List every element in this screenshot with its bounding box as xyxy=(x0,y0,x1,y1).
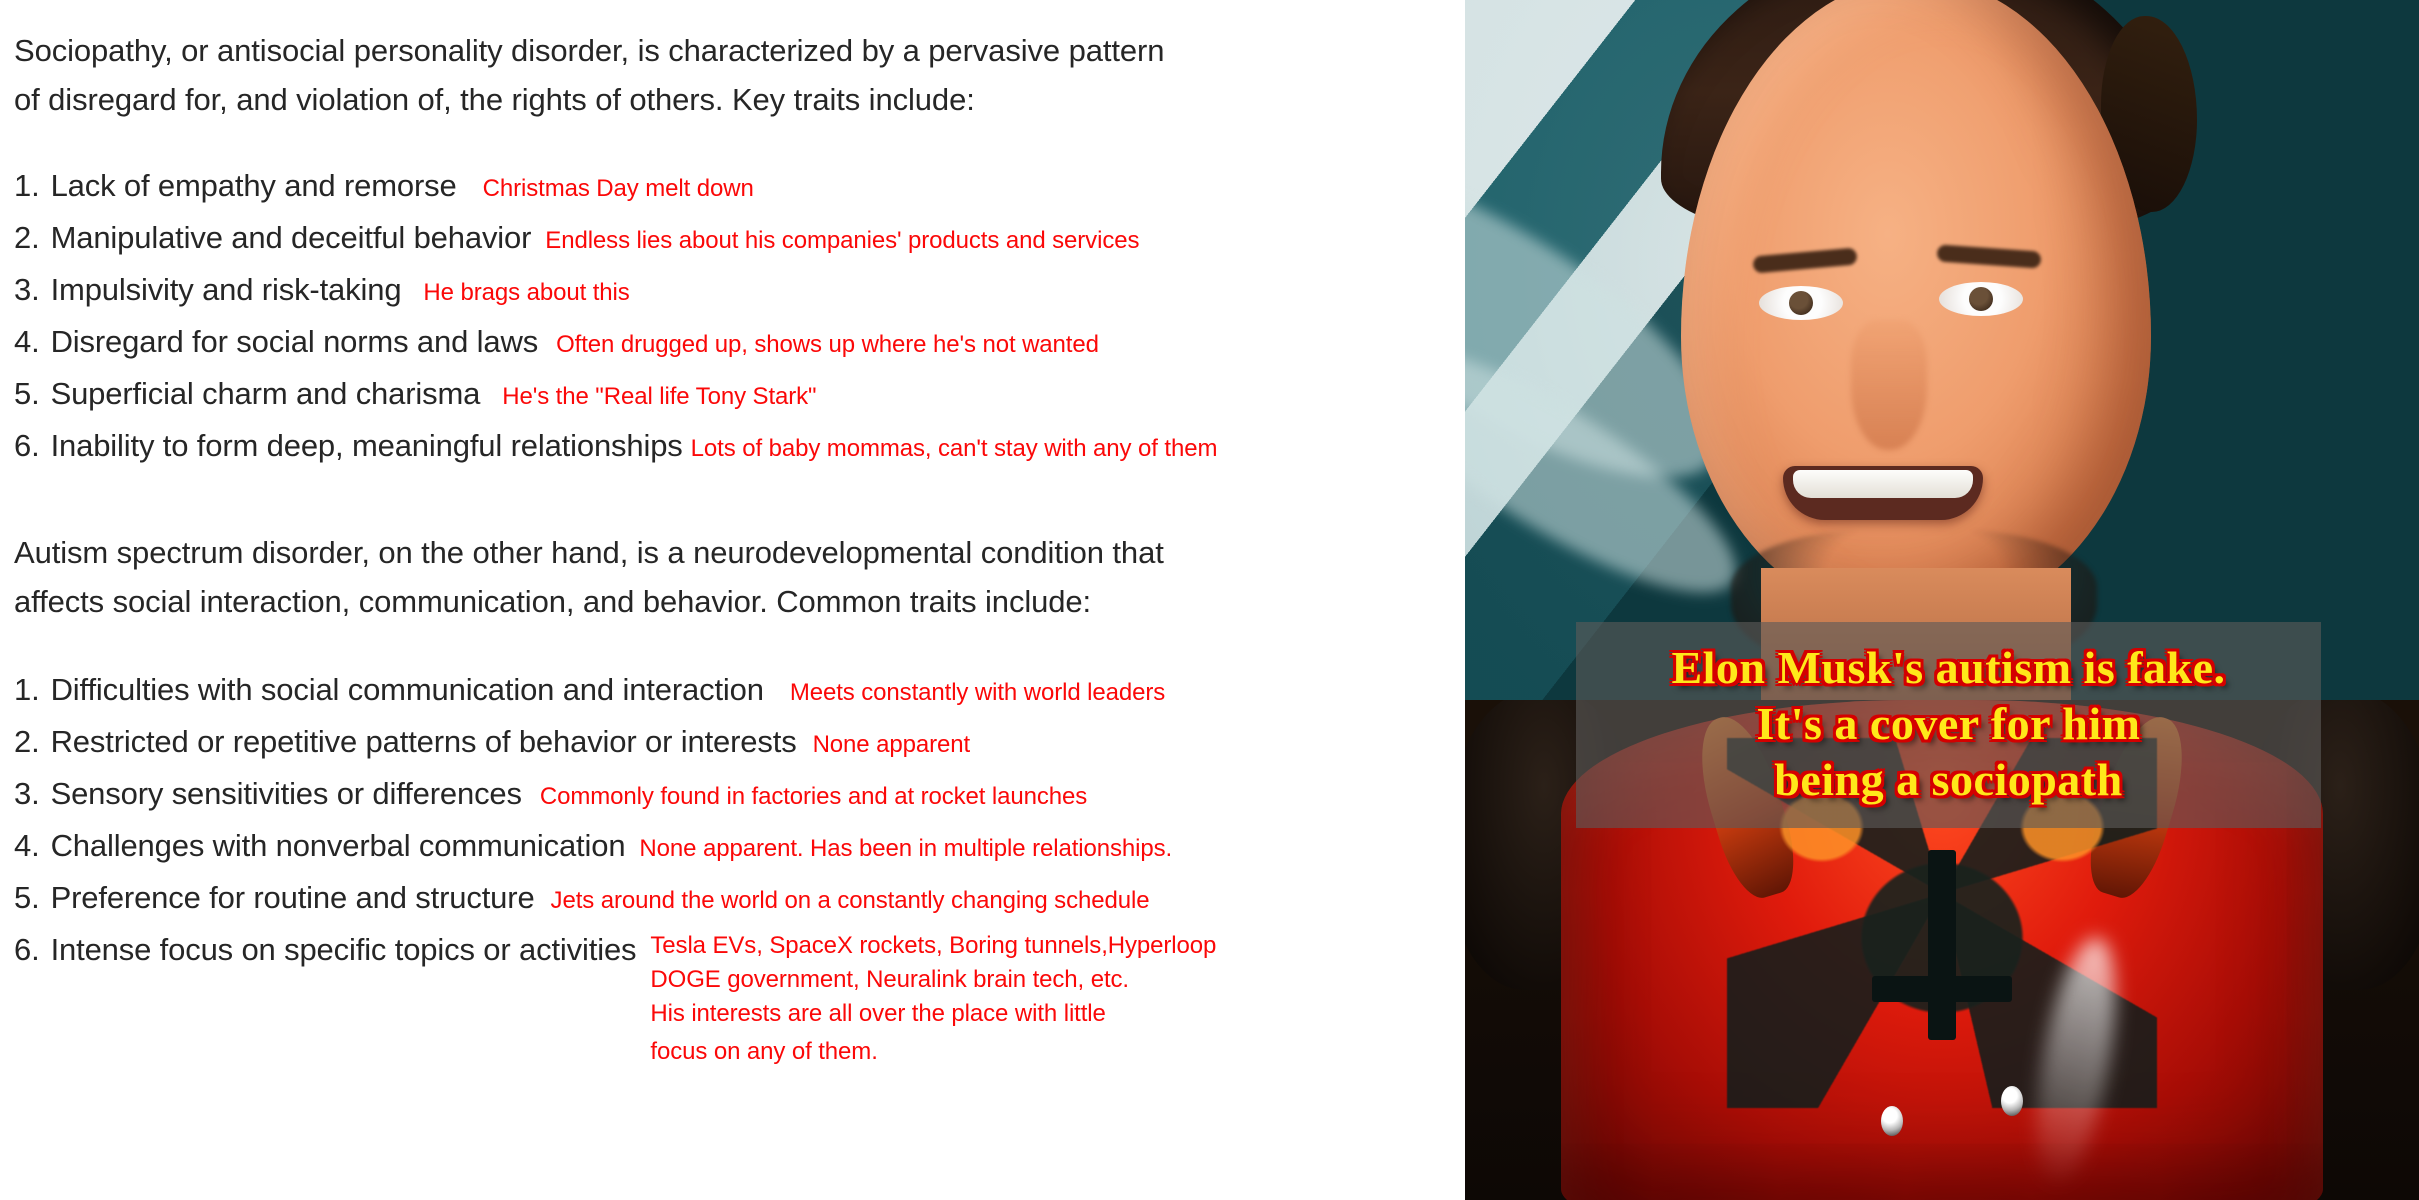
list-item: 2. Manipulative and deceitful behavior E… xyxy=(14,220,1465,272)
meme-photo: Elon Musk's autism is fake. It's a cover… xyxy=(1465,0,2419,1200)
mouth xyxy=(1783,466,1983,520)
trait-text: Sensory sensitivities or differences xyxy=(51,776,522,812)
trait-number: 3. xyxy=(14,272,40,308)
trait-text: Restricted or repetitive patterns of beh… xyxy=(51,724,797,760)
trait-text: Superficial charm and charisma xyxy=(51,376,481,412)
trait-text: Lack of empathy and remorse xyxy=(51,168,457,204)
trait-annotation: None apparent xyxy=(813,731,971,759)
trait-annotation: None apparent. Has been in multiple rela… xyxy=(639,835,1172,863)
trait-number: 5. xyxy=(14,376,40,412)
list-item: 2. Restricted or repetitive patterns of … xyxy=(14,724,1465,776)
trait-annotation: Endless lies about his companies' produc… xyxy=(545,227,1139,255)
trait-annotation: Meets constantly with world leaders xyxy=(790,679,1165,707)
face xyxy=(1681,0,2151,618)
stud xyxy=(1881,1106,1903,1136)
sociopathy-paragraph-line-2: of disregard for, and violation of, the … xyxy=(14,75,1465,124)
autism-trait-list: 1. Difficulties with social communicatio… xyxy=(14,672,1465,984)
teeth xyxy=(1793,470,1973,498)
final-annotation-block: Tesla EVs, SpaceX rockets, Boring tunnel… xyxy=(650,932,1216,1066)
text-panel: Sociopathy, or antisocial personality di… xyxy=(0,0,1465,1200)
trait-number: 4. xyxy=(14,324,40,360)
final-annotation-line-2: DOGE government, Neuralink brain tech, e… xyxy=(650,966,1216,994)
trait-number: 1. xyxy=(14,168,40,204)
trait-number: 5. xyxy=(14,880,40,916)
trait-number: 2. xyxy=(14,220,40,256)
final-annotation-line-3: His interests are all over the place wit… xyxy=(650,1000,1216,1028)
stud xyxy=(2001,1086,2023,1116)
list-item: 5. Preference for routine and structure … xyxy=(14,880,1465,932)
trait-annotation: Jets around the world on a constantly ch… xyxy=(551,887,1150,915)
trait-text: Challenges with nonverbal communication xyxy=(51,828,626,864)
trait-text: Preference for routine and structure xyxy=(51,880,535,916)
trait-annotation: Often drugged up, shows up where he's no… xyxy=(556,331,1099,359)
pupil xyxy=(1969,287,1993,311)
list-item: 1. Difficulties with social communicatio… xyxy=(14,672,1465,724)
trait-text: Manipulative and deceitful behavior xyxy=(51,220,532,256)
eye-right xyxy=(1939,282,2023,316)
inverted-cross-icon xyxy=(1928,850,1956,1040)
list-item: 4. Disregard for social norms and laws O… xyxy=(14,324,1465,376)
sociopathy-trait-list: 1. Lack of empathy and remorse Christmas… xyxy=(14,168,1465,480)
trait-text: Impulsivity and risk-taking xyxy=(51,272,402,308)
trait-number: 6. xyxy=(14,932,40,968)
list-item: 1. Lack of empathy and remorse Christmas… xyxy=(14,168,1465,220)
caption-line-1: Elon Musk's autism is fake. xyxy=(1576,640,2321,696)
list-item: 6. Inability to form deep, meaningful re… xyxy=(14,428,1465,480)
trait-text: Difficulties with social communication a… xyxy=(51,672,764,708)
trait-number: 2. xyxy=(14,724,40,760)
nose xyxy=(1851,320,1927,450)
sociopathy-paragraph: Sociopathy, or antisocial personality di… xyxy=(14,26,1465,124)
autism-paragraph-line-1: Autism spectrum disorder, on the other h… xyxy=(14,528,1465,577)
trait-text: Disregard for social norms and laws xyxy=(51,324,539,360)
list-item: 4. Challenges with nonverbal communicati… xyxy=(14,828,1465,880)
caption-line-3: being a sociopath xyxy=(1576,752,2321,808)
trait-text: Inability to form deep, meaningful relat… xyxy=(51,428,683,464)
list-item: 3. Impulsivity and risk-taking He brags … xyxy=(14,272,1465,324)
final-annotation-line-1: Tesla EVs, SpaceX rockets, Boring tunnel… xyxy=(650,932,1216,960)
sociopathy-paragraph-line-1: Sociopathy, or antisocial personality di… xyxy=(14,26,1465,75)
list-item: 3. Sensory sensitivities or differences … xyxy=(14,776,1465,828)
caption-line-2: It's a cover for him xyxy=(1576,696,2321,752)
trait-number: 4. xyxy=(14,828,40,864)
autism-paragraph-line-2: affects social interaction, communicatio… xyxy=(14,577,1465,626)
trait-number: 1. xyxy=(14,672,40,708)
trait-number: 6. xyxy=(14,428,40,464)
list-item: 5. Superficial charm and charisma He's t… xyxy=(14,376,1465,428)
autism-paragraph: Autism spectrum disorder, on the other h… xyxy=(14,528,1465,626)
eye-left xyxy=(1759,286,1843,320)
final-annotation-line-4: focus on any of them. xyxy=(650,1038,1216,1066)
trait-annotation: Commonly found in factories and at rocke… xyxy=(540,783,1087,811)
meme-screenshot: Sociopathy, or antisocial personality di… xyxy=(0,0,2419,1200)
trait-number: 3. xyxy=(14,776,40,812)
list-item: 6. Intense focus on specific topics or a… xyxy=(14,932,1465,984)
caption-overlay: Elon Musk's autism is fake. It's a cover… xyxy=(1576,622,2321,828)
pupil xyxy=(1789,291,1813,315)
trait-annotation: He brags about this xyxy=(423,279,629,307)
trait-annotation: He's the "Real life Tony Stark" xyxy=(502,383,816,411)
trait-annotation: Christmas Day melt down xyxy=(483,175,754,203)
trait-annotation: Lots of baby mommas, can't stay with any… xyxy=(691,435,1218,463)
trait-text: Intense focus on specific topics or acti… xyxy=(51,932,637,968)
